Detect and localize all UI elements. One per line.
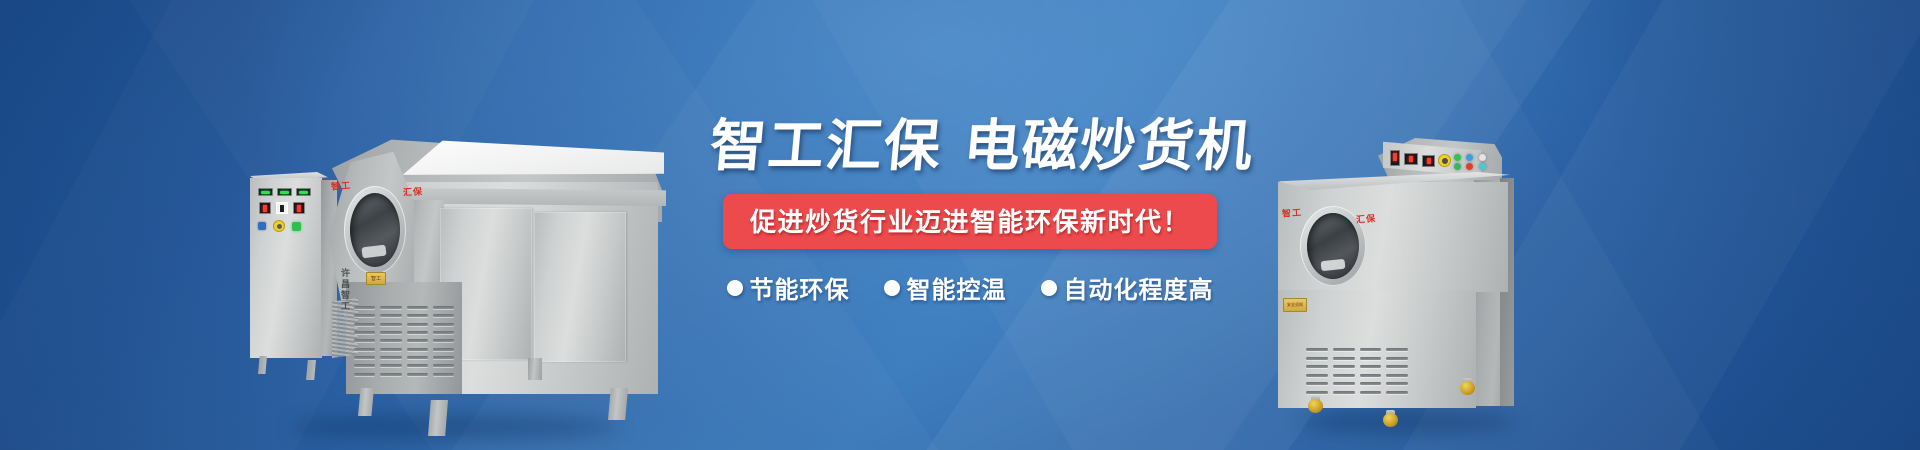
control-button-icon [1479, 154, 1486, 161]
caster-wheel [1460, 378, 1477, 395]
counter-display-icon [259, 202, 271, 214]
cabinet-leg [258, 356, 267, 374]
counter-display-icon [276, 202, 288, 214]
bullet-dot-icon [1041, 280, 1057, 296]
button-grid [1454, 154, 1488, 170]
drum-opening [344, 186, 406, 274]
feature-label: 节能环保 [750, 270, 850, 305]
feature-item-0: 节能环保 [727, 270, 850, 305]
page-title: 智工汇保电磁炒货机 [708, 118, 1233, 175]
vent-slots [354, 306, 454, 378]
promo-banner: 智工 汇保 许昌智工 智工 [0, 0, 1920, 450]
emergency-stop-icon [273, 220, 285, 232]
tagline-row: 促进炒货行业迈进智能环保新时代！ [710, 194, 1230, 249]
voltage-display-icon [1390, 150, 1400, 166]
brand-mark-front: 智工 [1282, 205, 1303, 219]
feature-list: 节能环保 智能控温 自动化程度高 [710, 270, 1230, 305]
product-image-large-roaster: 智工 汇保 许昌智工 智工 [228, 120, 680, 450]
product-image-compact-roaster: 智工 汇保 安全须知 [1278, 120, 1544, 450]
drum-interior [350, 193, 400, 267]
machine-leg [358, 388, 374, 416]
machine-leg [528, 358, 542, 380]
feature-label: 自动化程度高 [1064, 270, 1214, 305]
bullet-dot-icon [727, 280, 743, 296]
banner-copy-block: 智工汇保电磁炒货机 促进炒货行业迈进智能环保新时代！ 节能环保 智能控温 自动化… [710, 118, 1230, 305]
feature-item-2: 自动化程度高 [1041, 270, 1214, 305]
temperature-display-icon [1404, 153, 1418, 165]
feature-label: 智能控温 [907, 270, 1007, 305]
power-switch-icon [258, 222, 266, 230]
nameplate-label: 智工 [366, 272, 386, 285]
vent-slots [1306, 348, 1408, 396]
emergency-stop-icon [1438, 154, 1451, 167]
timer-display-icon [1422, 155, 1435, 167]
brand-mark-side: 汇保 [1356, 211, 1377, 225]
control-button-icon [1466, 163, 1473, 170]
door-panel [534, 212, 626, 362]
machine-leg [428, 400, 448, 436]
counter-display-icon [293, 202, 305, 214]
machine-leg [608, 388, 628, 420]
warning-label: 安全须知 [1283, 298, 1307, 312]
control-button-icon [1454, 154, 1461, 161]
digital-meter-icon [296, 188, 311, 196]
brand-mark-front: 智工 [331, 178, 352, 192]
drum-interior [1307, 213, 1359, 279]
caster-wheel [1308, 396, 1325, 413]
control-button-icon [1466, 154, 1473, 161]
caster-wheel [1383, 410, 1400, 427]
control-button-icon [1479, 163, 1486, 170]
feature-item-1: 智能控温 [884, 270, 1007, 305]
control-row [258, 220, 314, 232]
meter-row [258, 188, 311, 196]
headline-product: 电磁炒货机 [961, 114, 1257, 179]
digital-meter-icon [258, 188, 273, 196]
cabinet-leg [306, 360, 316, 380]
bullet-dot-icon [884, 280, 900, 296]
control-button-icon [1454, 163, 1461, 170]
headline-brand: 智工汇保 [707, 114, 945, 179]
brand-mark-side: 汇保 [403, 184, 424, 198]
start-button-icon [292, 222, 301, 231]
manufacturer-vertical-text: 许昌智工 [338, 268, 351, 312]
tagline-badge: 促进炒货行业迈进智能环保新时代！ [723, 194, 1217, 249]
digital-meter-icon [277, 188, 292, 196]
counter-row [259, 202, 305, 214]
